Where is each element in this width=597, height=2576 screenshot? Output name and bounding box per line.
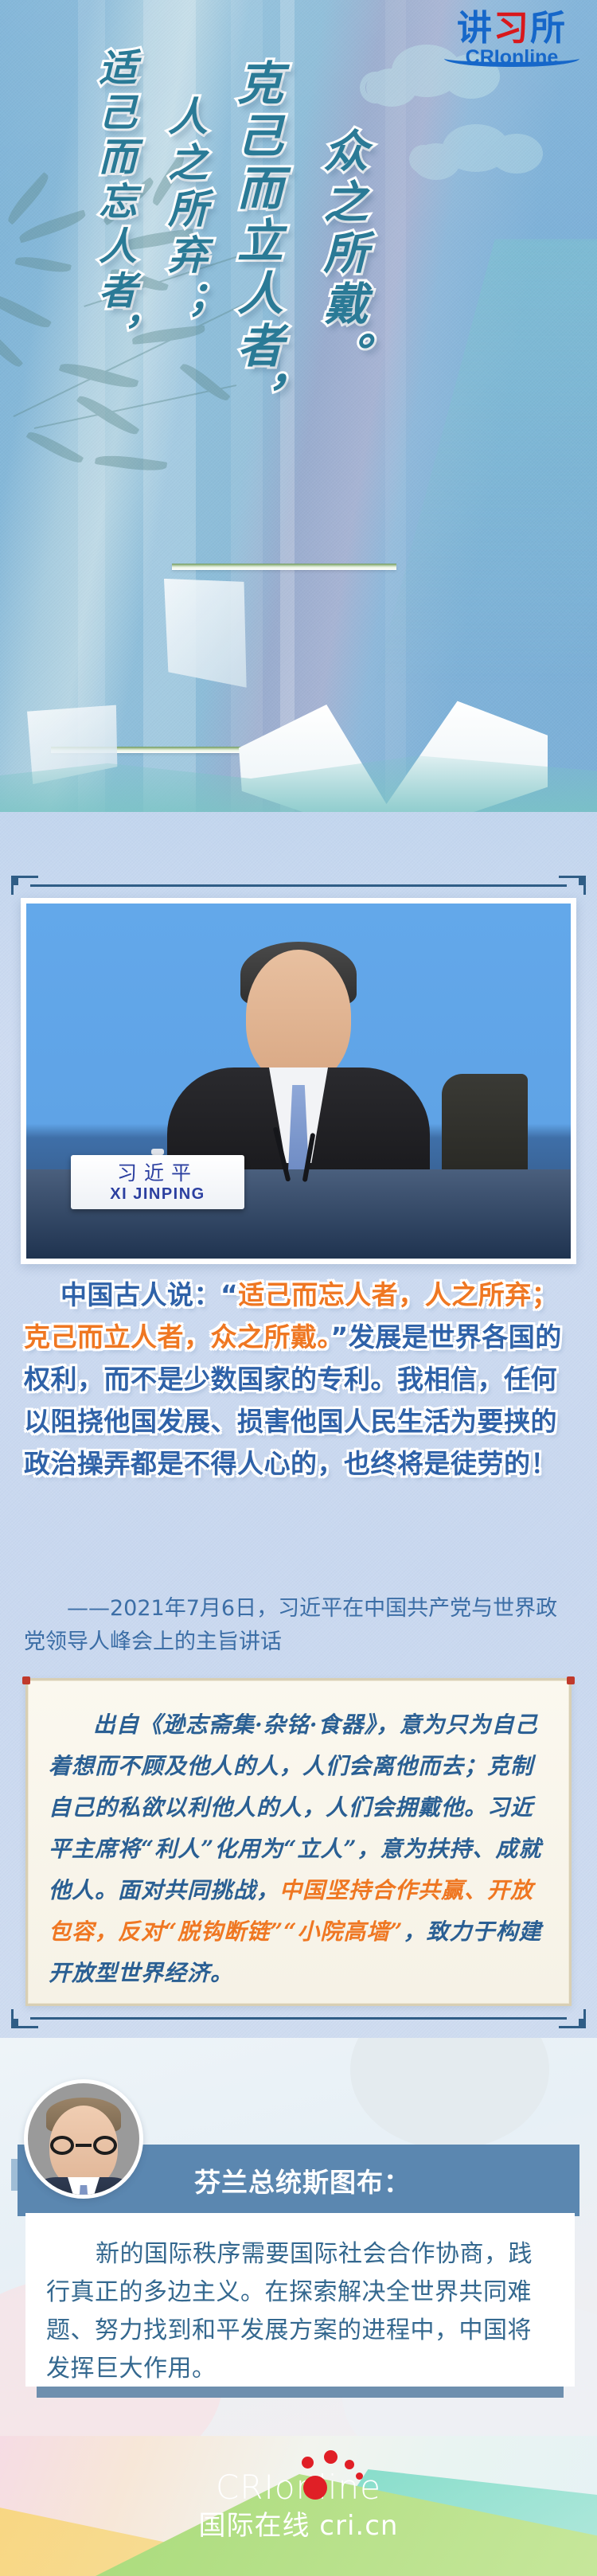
glasses-icon bbox=[50, 2136, 117, 2155]
explanation-text: 出自《逊志斋集·杂铭·食器》，意为只为自己着想而不顾及他人的人，人们会离他而去；… bbox=[49, 1704, 548, 1994]
explanation-part1: 出自《逊志斋集·杂铭·食器》，意为只为自己着想而不顾及他人的人，人们会离他而去；… bbox=[49, 1711, 541, 1903]
ornate-frame-top bbox=[11, 876, 586, 896]
xi-quote-text: 中国古人说：“适己而忘人者，人之所弃；克己而立人者，众之所戴。”发展是世界各国的… bbox=[24, 1274, 573, 1485]
calligraphy-column-2: 人之所弃； bbox=[156, 96, 213, 326]
nameplate-stand bbox=[151, 1149, 164, 1155]
calligraphy-column-3: 克己而立人者， bbox=[223, 59, 290, 427]
calligraphy-column-4: 众之所戴。 bbox=[310, 127, 375, 382]
logo-swoosh-icon bbox=[444, 49, 579, 67]
hero-banner: 适己而忘人者， 人之所弃； 克己而立人者， 众之所戴。 讲习所 CRIonlin… bbox=[0, 0, 597, 812]
xi-jinping-photo-frame: 习近平 XI JINPING bbox=[21, 898, 576, 1264]
cloud-ornament-icon bbox=[408, 118, 559, 194]
finland-card-shadow bbox=[37, 2387, 564, 2398]
decor-blob bbox=[350, 2038, 549, 2149]
nameplate-chinese: 习近平 bbox=[117, 1163, 198, 1183]
logo-chinese-text: 讲习所 bbox=[436, 11, 587, 46]
footer-logo-en: CRIonline bbox=[216, 2471, 381, 2504]
finland-president-avatar bbox=[24, 2079, 143, 2199]
page-footer: CRIonline 国际在线 cri.cn bbox=[0, 2436, 597, 2576]
footer-logo[interactable]: CRIonline 国际在线 cri.cn bbox=[0, 2471, 597, 2539]
xi-jinping-photo: 习近平 XI JINPING bbox=[26, 904, 571, 1259]
nameplate-english: XI JINPING bbox=[110, 1186, 205, 1202]
ornate-frame-bottom bbox=[11, 2008, 586, 2028]
quote-lead: 中国古人说：“ bbox=[60, 1279, 238, 1310]
cri-jiangxisuo-logo[interactable]: 讲习所 CRIonline bbox=[436, 11, 587, 68]
photo-face bbox=[246, 950, 351, 1083]
quote-attribution: ——2021年7月6日，习近平在中国共产党与世界政党领导人峰会上的主旨讲话 bbox=[24, 1592, 573, 1659]
finland-statement-text: 新的国际秩序需要国际社会合作协商，践行真正的多边主义。在探索解决全世界共同难题、… bbox=[46, 2235, 554, 2388]
logo-dot-icon bbox=[302, 2457, 314, 2469]
logo-dot-icon bbox=[303, 2476, 327, 2500]
logo-dot-icon bbox=[345, 2460, 354, 2469]
finland-statement-card: 新的国际秩序需要国际社会合作协商，践行真正的多边主义。在探索解决全世界共同难题、… bbox=[25, 2213, 575, 2387]
finland-speaker-label: 芬兰总统斯图布： bbox=[194, 2161, 411, 2199]
calligraphy-column-1: 适己而忘人者， bbox=[86, 48, 142, 360]
card-pin-icon bbox=[567, 1676, 575, 1684]
card-pin-icon bbox=[22, 1676, 30, 1684]
logo-dot-icon bbox=[324, 2450, 338, 2464]
logo-dot-icon bbox=[356, 2473, 363, 2480]
banner-tick bbox=[11, 2159, 18, 2191]
explanation-card: 出自《逊志斋集·杂铭·食器》，意为只为自己着想而不顾及他人的人，人们会离他而去；… bbox=[25, 1678, 572, 2006]
nameplate: 习近平 XI JINPING bbox=[71, 1155, 244, 1209]
decor-wedge bbox=[374, 239, 597, 685]
decor-green-rule bbox=[172, 564, 396, 570]
footer-tagline: 国际在线 cri.cn bbox=[0, 2512, 597, 2539]
